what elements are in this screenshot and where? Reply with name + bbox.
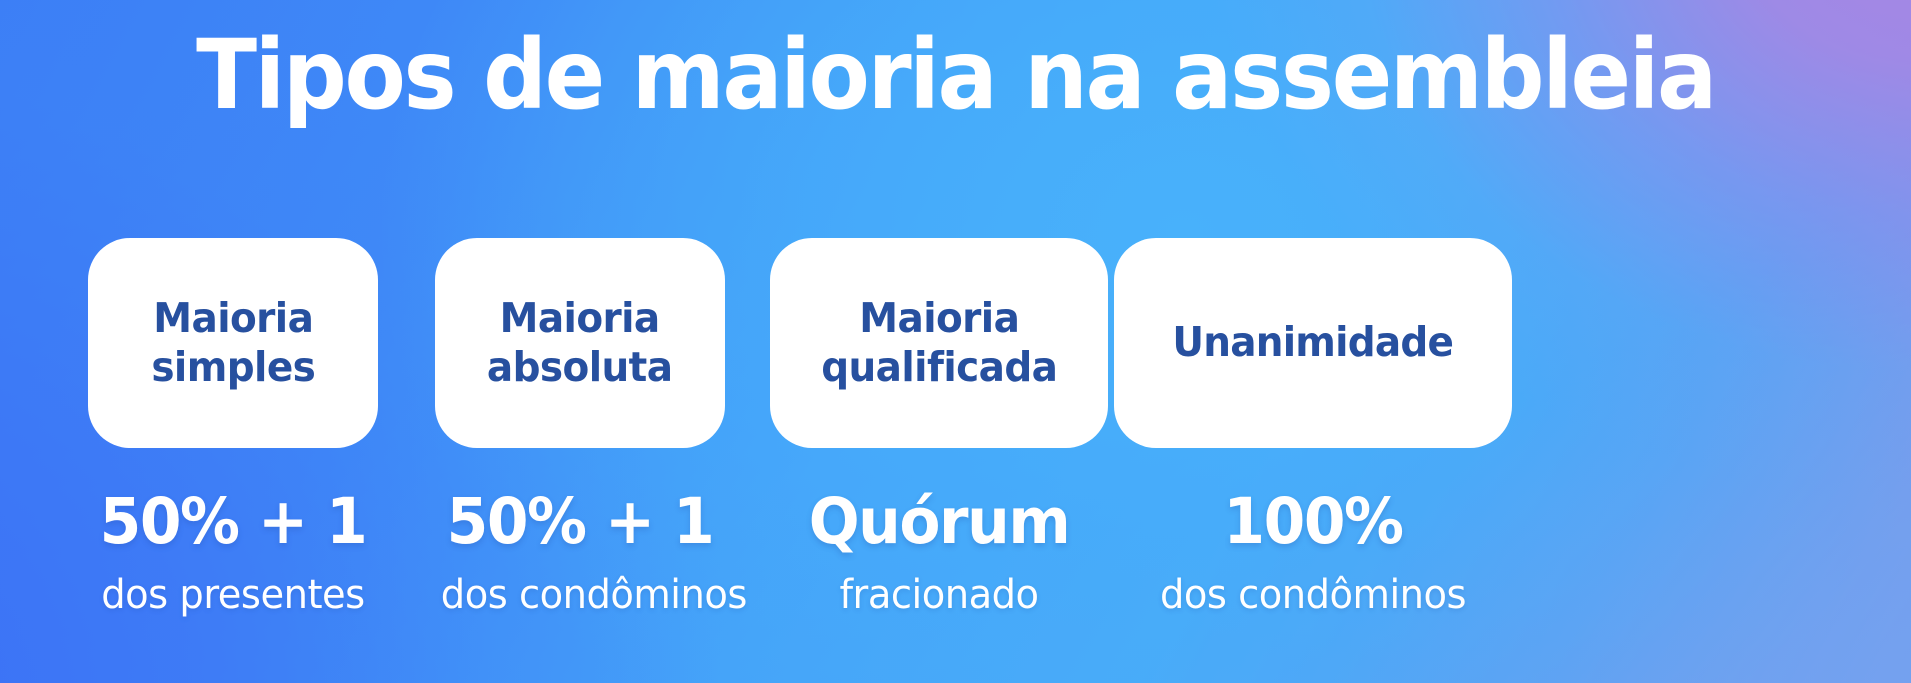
metric-caption: dos presentes — [94, 575, 372, 615]
card-label: Maioria absoluta — [487, 294, 673, 392]
metric-block: 100% dos condôminos — [1114, 490, 1512, 615]
majority-column-absoluta: Maioria absoluta 50% + 1 dos condôminos — [435, 238, 725, 615]
metric-value: 100% — [1124, 490, 1502, 553]
metric-block: 50% + 1 dos condôminos — [435, 490, 725, 615]
majority-column-simples: Maioria simples 50% + 1 dos presentes — [88, 238, 378, 615]
metric-block: 50% + 1 dos presentes — [88, 490, 378, 615]
majority-types-row: Maioria simples 50% + 1 dos presentes Ma… — [66, 238, 1846, 658]
card-label: Maioria simples — [151, 294, 315, 392]
card-label: Unanimidade — [1173, 318, 1454, 367]
page-title: Tipos de maioria na assembleia — [67, 24, 1844, 128]
metric-caption: dos condôminos — [441, 575, 719, 615]
metric-value: 50% + 1 — [95, 490, 371, 553]
metric-value: Quórum — [778, 490, 1099, 553]
card-label: Maioria qualificada — [821, 294, 1057, 392]
majority-column-unanimidade: Unanimidade 100% dos condôminos — [1114, 238, 1512, 615]
card-maioria-qualificada[interactable]: Maioria qualificada — [770, 238, 1108, 448]
card-maioria-simples[interactable]: Maioria simples — [88, 238, 378, 448]
majority-column-qualificada: Maioria qualificada Quórum fracionado — [770, 238, 1108, 615]
infographic-canvas: Tipos de maioria na assembleia Maioria s… — [0, 0, 1911, 683]
card-maioria-absoluta[interactable]: Maioria absoluta — [435, 238, 725, 448]
metric-caption: dos condôminos — [1122, 575, 1504, 615]
metric-caption: fracionado — [777, 575, 1101, 615]
card-unanimidade[interactable]: Unanimidade — [1114, 238, 1512, 448]
metric-value: 50% + 1 — [442, 490, 718, 553]
metric-block: Quórum fracionado — [770, 490, 1108, 615]
